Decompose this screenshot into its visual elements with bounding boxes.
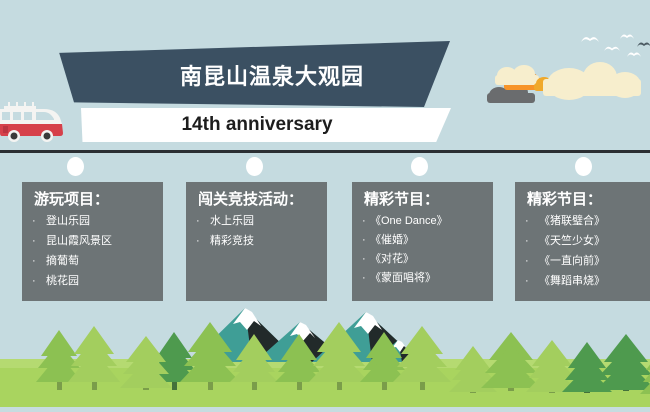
list-item-label: 《One Dance》 <box>370 216 448 227</box>
card-item-list: ·《猪联璧合》·《天竺少女》·《一直向前》·《舞蹈串烧》 <box>525 216 650 287</box>
bullet-icon: · <box>32 236 46 247</box>
bullet-icon: · <box>32 256 46 267</box>
list-item[interactable]: ·《对花》 <box>362 254 487 265</box>
list-item[interactable]: ·《天竺少女》 <box>525 236 650 247</box>
bullet-icon: · <box>525 236 539 247</box>
list-item-label: 《蒙面唱将》 <box>370 273 436 284</box>
card-title: 游玩项目： <box>34 191 157 209</box>
list-item-label: 《对花》 <box>370 254 414 265</box>
bullet-icon: · <box>196 236 210 247</box>
bullet-icon: · <box>525 276 539 287</box>
bullet-icon: · <box>525 216 539 227</box>
card-title: 闯关竞技活动： <box>198 191 321 209</box>
card-programs-2: 精彩节目：·《猪联璧合》·《天竺少女》·《一直向前》·《舞蹈串烧》 <box>515 182 650 301</box>
card-item-list: ·登山乐园·昆山霞风景区·摘葡萄·桃花园 <box>32 216 157 287</box>
list-item[interactable]: ·《舞蹈串烧》 <box>525 276 650 287</box>
bullet-icon: · <box>362 273 370 284</box>
timeline-dot-3[interactable] <box>411 157 428 176</box>
bullet-icon: · <box>196 216 210 227</box>
list-item-label: 《猪联璧合》 <box>539 216 605 227</box>
card-item-list: ·水上乐园·精彩竞技 <box>196 216 321 247</box>
card-programs-1: 精彩节目：·《One Dance》·《催婚》·《对花》·《蒙面唱将》 <box>352 182 493 301</box>
list-item[interactable]: ·水上乐园 <box>196 216 321 227</box>
list-item-label: 《舞蹈串烧》 <box>539 276 605 287</box>
cloud-cream-large-icon <box>543 62 641 96</box>
list-item[interactable]: ·《一直向前》 <box>525 256 650 267</box>
bottom-edge-strip <box>0 407 650 412</box>
timeline-dot-1[interactable] <box>67 157 84 176</box>
bullet-icon: · <box>362 254 370 265</box>
card-title: 精彩节目： <box>527 191 650 209</box>
timeline-dot-2[interactable] <box>246 157 263 176</box>
list-item[interactable]: ·《One Dance》 <box>362 216 487 227</box>
list-item[interactable]: ·摘葡萄 <box>32 256 157 267</box>
bird-5-icon <box>636 40 650 48</box>
page-subtitle: 14th anniversary <box>81 114 451 136</box>
list-item[interactable]: ·精彩竞技 <box>196 236 321 247</box>
card-item-list: ·《One Dance》·《催婚》·《对花》·《蒙面唱将》 <box>362 216 487 284</box>
bird-4-icon <box>626 50 642 58</box>
card-challenge-activities: 闯关竞技活动：·水上乐园·精彩竞技 <box>186 182 327 301</box>
list-item-label: 摘葡萄 <box>46 256 79 267</box>
list-item-label: 桃花园 <box>46 276 79 287</box>
bullet-icon: · <box>32 216 46 227</box>
list-item-label: 登山乐园 <box>46 216 90 227</box>
list-item[interactable]: ·《催婚》 <box>362 235 487 246</box>
bird-3-icon <box>619 32 635 40</box>
card-title: 精彩节目： <box>364 191 487 209</box>
scenery-illustration <box>0 300 650 412</box>
bullet-icon: · <box>525 256 539 267</box>
anniversary-poster: 南昆山温泉大观园 14th anniversary 游玩项目：·登山乐园·昆山霞… <box>0 0 650 412</box>
list-item-label: 《天竺少女》 <box>539 236 605 247</box>
bird-2-icon <box>603 44 621 52</box>
page-title: 南昆山温泉大观园 <box>56 59 456 91</box>
timeline-dot-4[interactable] <box>575 157 592 176</box>
list-item-label: 昆山霞风景区 <box>46 236 112 247</box>
title-banner-light: 14th anniversary <box>81 108 451 142</box>
list-item-label: 精彩竞技 <box>210 236 254 247</box>
bullet-icon: · <box>362 216 370 227</box>
timeline-rule <box>0 150 650 153</box>
bullet-icon: · <box>362 235 370 246</box>
camper-van-icon <box>0 100 66 144</box>
list-item[interactable]: ·登山乐园 <box>32 216 157 227</box>
list-item-label: 《催婚》 <box>370 235 414 246</box>
bullet-icon: · <box>32 276 46 287</box>
list-item-label: 《一直向前》 <box>539 256 605 267</box>
list-item[interactable]: ·《猪联璧合》 <box>525 216 650 227</box>
bird-1-icon <box>580 34 600 43</box>
list-item[interactable]: ·桃花园 <box>32 276 157 287</box>
list-item[interactable]: ·昆山霞风景区 <box>32 236 157 247</box>
card-amusement-projects: 游玩项目：·登山乐园·昆山霞风景区·摘葡萄·桃花园 <box>22 182 163 301</box>
list-item[interactable]: ·《蒙面唱将》 <box>362 273 487 284</box>
cloud-cream-small-icon <box>495 65 539 85</box>
list-item-label: 水上乐园 <box>210 216 254 227</box>
